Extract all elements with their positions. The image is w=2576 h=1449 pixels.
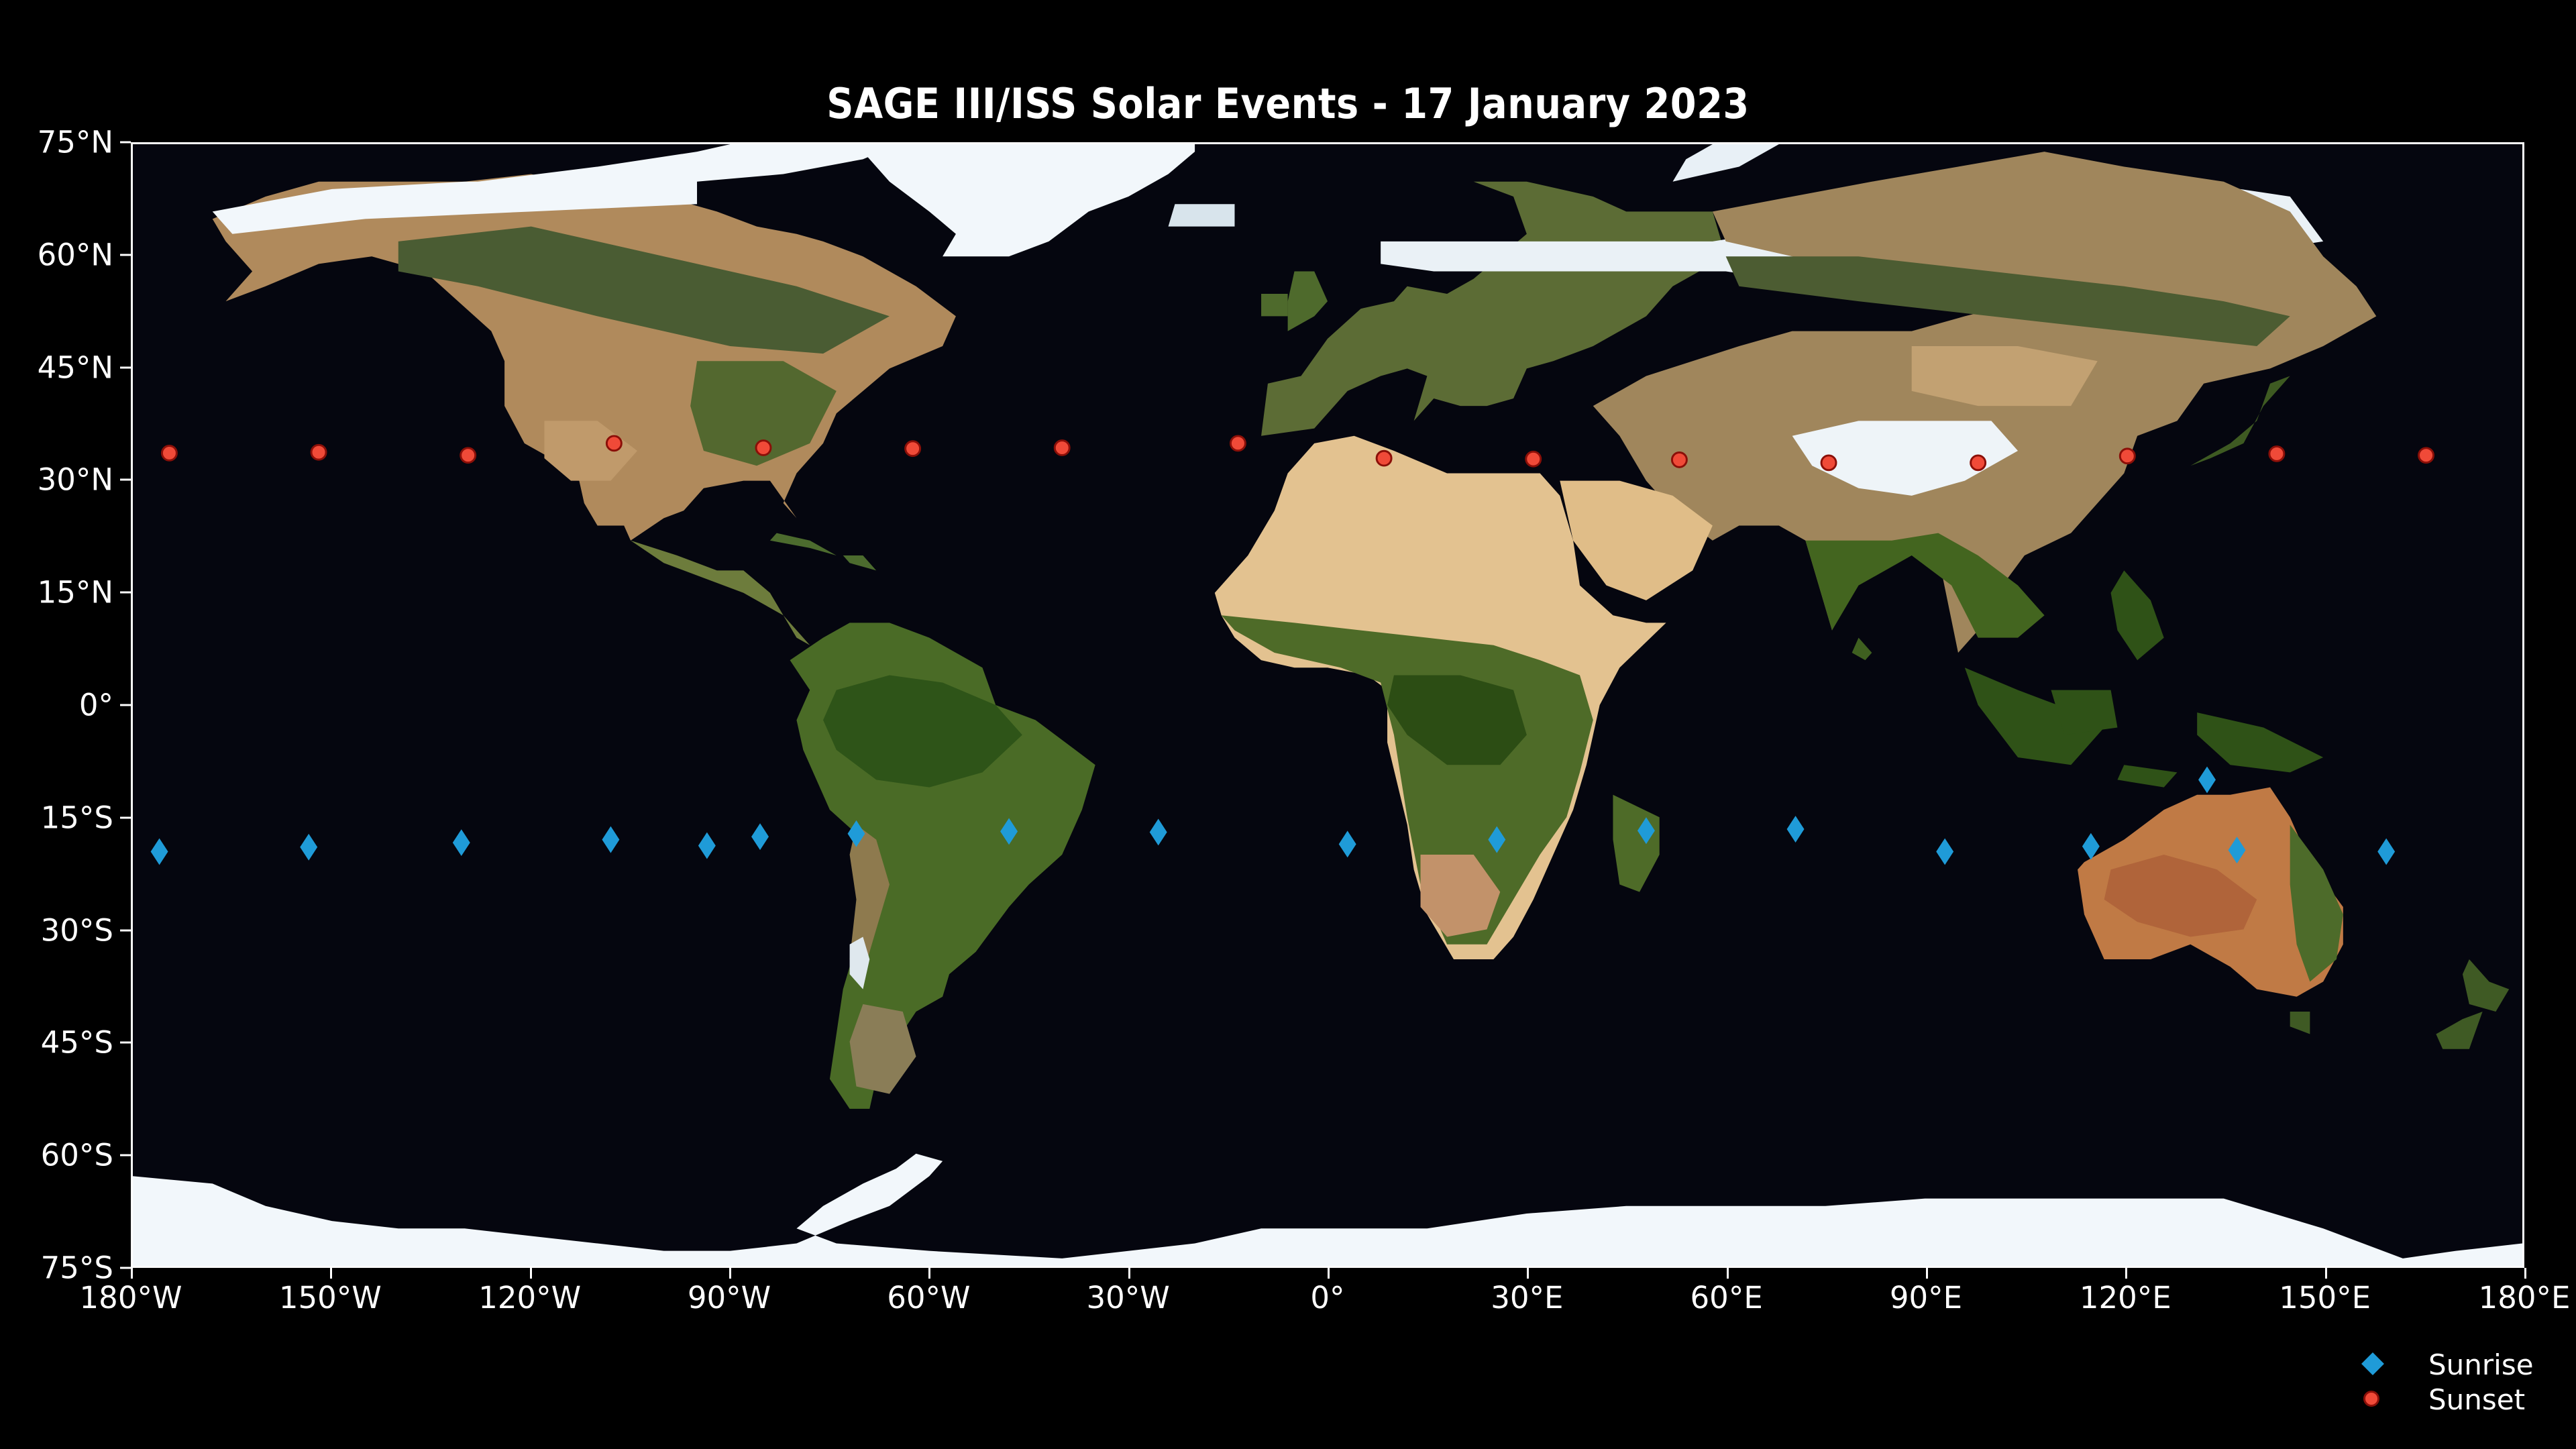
- latitude-tick-label: 75°N: [38, 125, 113, 160]
- longitude-tick-mark: [2125, 1268, 2127, 1279]
- sunset-marker: [1230, 436, 1245, 451]
- sunset-marker: [756, 441, 771, 455]
- latitude-tick-label: 60°N: [38, 237, 113, 272]
- latitude-tick-mark: [120, 704, 131, 706]
- longitude-tick-label: 180°W: [80, 1280, 182, 1316]
- series-sunrise: [151, 767, 2396, 865]
- latitude-tick-label: 15°N: [38, 575, 113, 610]
- longitude-tick-label: 0°: [1310, 1280, 1344, 1316]
- longitude-tick-mark: [1527, 1268, 1529, 1279]
- sunrise-marker: [1000, 818, 1018, 845]
- longitude-tick-label: 30°W: [1087, 1280, 1170, 1316]
- longitude-tick-mark: [530, 1268, 532, 1279]
- longitude-tick-label: 60°W: [887, 1280, 970, 1316]
- longitude-tick-label: 150°E: [2279, 1280, 2371, 1316]
- latitude-tick-label: 30°N: [38, 462, 113, 498]
- sunset-marker: [1821, 455, 1836, 470]
- sunset-marker: [461, 448, 476, 463]
- sunrise-marker: [151, 839, 168, 865]
- sunrise-marker: [2082, 833, 2100, 860]
- latitude-tick-mark: [120, 142, 131, 144]
- sunset-marker: [1377, 451, 1391, 466]
- circle-icon: [2361, 1387, 2384, 1410]
- sunset-marker: [906, 441, 920, 456]
- longitude-tick-mark: [928, 1268, 930, 1279]
- sunrise-marker: [453, 829, 470, 856]
- legend: Sunrise Sunset: [2361, 1346, 2563, 1426]
- sunrise-marker: [1488, 826, 1505, 853]
- latitude-tick-mark: [120, 816, 131, 818]
- sunrise-marker: [1936, 839, 1953, 865]
- sunrise-marker: [848, 820, 865, 847]
- latitude-tick-label: 60°S: [41, 1138, 113, 1173]
- longitude-tick-label: 90°W: [688, 1280, 771, 1316]
- diamond-icon: [2361, 1352, 2384, 1375]
- latitude-tick-mark: [120, 254, 131, 256]
- sunset-marker: [1971, 455, 1986, 470]
- sunset-marker: [1672, 453, 1686, 468]
- solar-event-markers: [133, 144, 2522, 1266]
- map-plot-area[interactable]: [131, 142, 2524, 1268]
- latitude-tick-mark: [120, 1155, 131, 1157]
- sunrise-marker: [2198, 767, 2216, 794]
- latitude-tick-mark: [120, 592, 131, 594]
- latitude-tick-label: 0°: [79, 688, 113, 723]
- longitude-tick-label: 120°W: [478, 1280, 581, 1316]
- longitude-tick-label: 180°E: [2479, 1280, 2571, 1316]
- sunset-marker: [2120, 449, 2135, 464]
- latitude-tick-mark: [120, 479, 131, 481]
- longitude-tick-label: 30°E: [1491, 1280, 1563, 1316]
- sunset-marker: [311, 445, 326, 460]
- sunrise-marker: [1638, 817, 1655, 844]
- longitude-tick-mark: [1926, 1268, 1928, 1279]
- sunset-marker: [2269, 447, 2284, 462]
- legend-item-label: Sunset: [2428, 1383, 2525, 1416]
- latitude-tick-mark: [120, 929, 131, 931]
- sunrise-marker: [1339, 830, 1356, 857]
- sunrise-marker: [698, 833, 716, 859]
- longitude-tick-mark: [1328, 1268, 1330, 1279]
- longitude-tick-mark: [330, 1268, 332, 1279]
- longitude-tick-label: 60°E: [1690, 1280, 1763, 1316]
- latitude-tick-label: 15°S: [41, 800, 113, 835]
- latitude-tick-label: 45°N: [38, 350, 113, 385]
- sunset-marker: [606, 436, 621, 451]
- page-title: SAGE III/ISS Solar Events - 17 January 2…: [0, 79, 2576, 128]
- longitude-tick-mark: [729, 1268, 731, 1279]
- series-sunset: [162, 436, 2433, 470]
- longitude-tick-label: 120°E: [2080, 1280, 2171, 1316]
- latitude-tick-mark: [120, 1267, 131, 1269]
- sunrise-marker: [1150, 819, 1167, 846]
- latitude-tick-mark: [120, 1042, 131, 1044]
- longitude-tick-mark: [1128, 1268, 1130, 1279]
- longitude-tick-mark: [1727, 1268, 1729, 1279]
- sunset-marker: [1526, 451, 1541, 466]
- sunset-marker: [162, 445, 176, 460]
- legend-item-sunrise[interactable]: Sunrise: [2361, 1346, 2563, 1381]
- latitude-tick-label: 30°S: [41, 912, 113, 948]
- legend-item-label: Sunrise: [2428, 1348, 2534, 1381]
- longitude-tick-label: 90°E: [1890, 1280, 1962, 1316]
- sunset-marker: [1055, 441, 1069, 455]
- longitude-tick-mark: [131, 1268, 133, 1279]
- sunrise-marker: [751, 823, 769, 850]
- longitude-tick-mark: [2524, 1268, 2526, 1279]
- sunrise-marker: [300, 834, 317, 861]
- latitude-tick-label: 45°S: [41, 1025, 113, 1061]
- legend-item-sunset[interactable]: Sunset: [2361, 1381, 2563, 1415]
- sunrise-marker: [1787, 816, 1805, 843]
- sunrise-marker: [2377, 839, 2395, 865]
- latitude-tick-mark: [120, 366, 131, 368]
- sunrise-marker: [2229, 837, 2246, 863]
- sunrise-marker: [602, 826, 619, 853]
- sunset-marker: [2419, 448, 2434, 463]
- longitude-tick-mark: [2325, 1268, 2327, 1279]
- longitude-tick-label: 150°W: [279, 1280, 382, 1316]
- figure-canvas: SAGE III/ISS Solar Events - 17 January 2…: [0, 0, 2576, 1449]
